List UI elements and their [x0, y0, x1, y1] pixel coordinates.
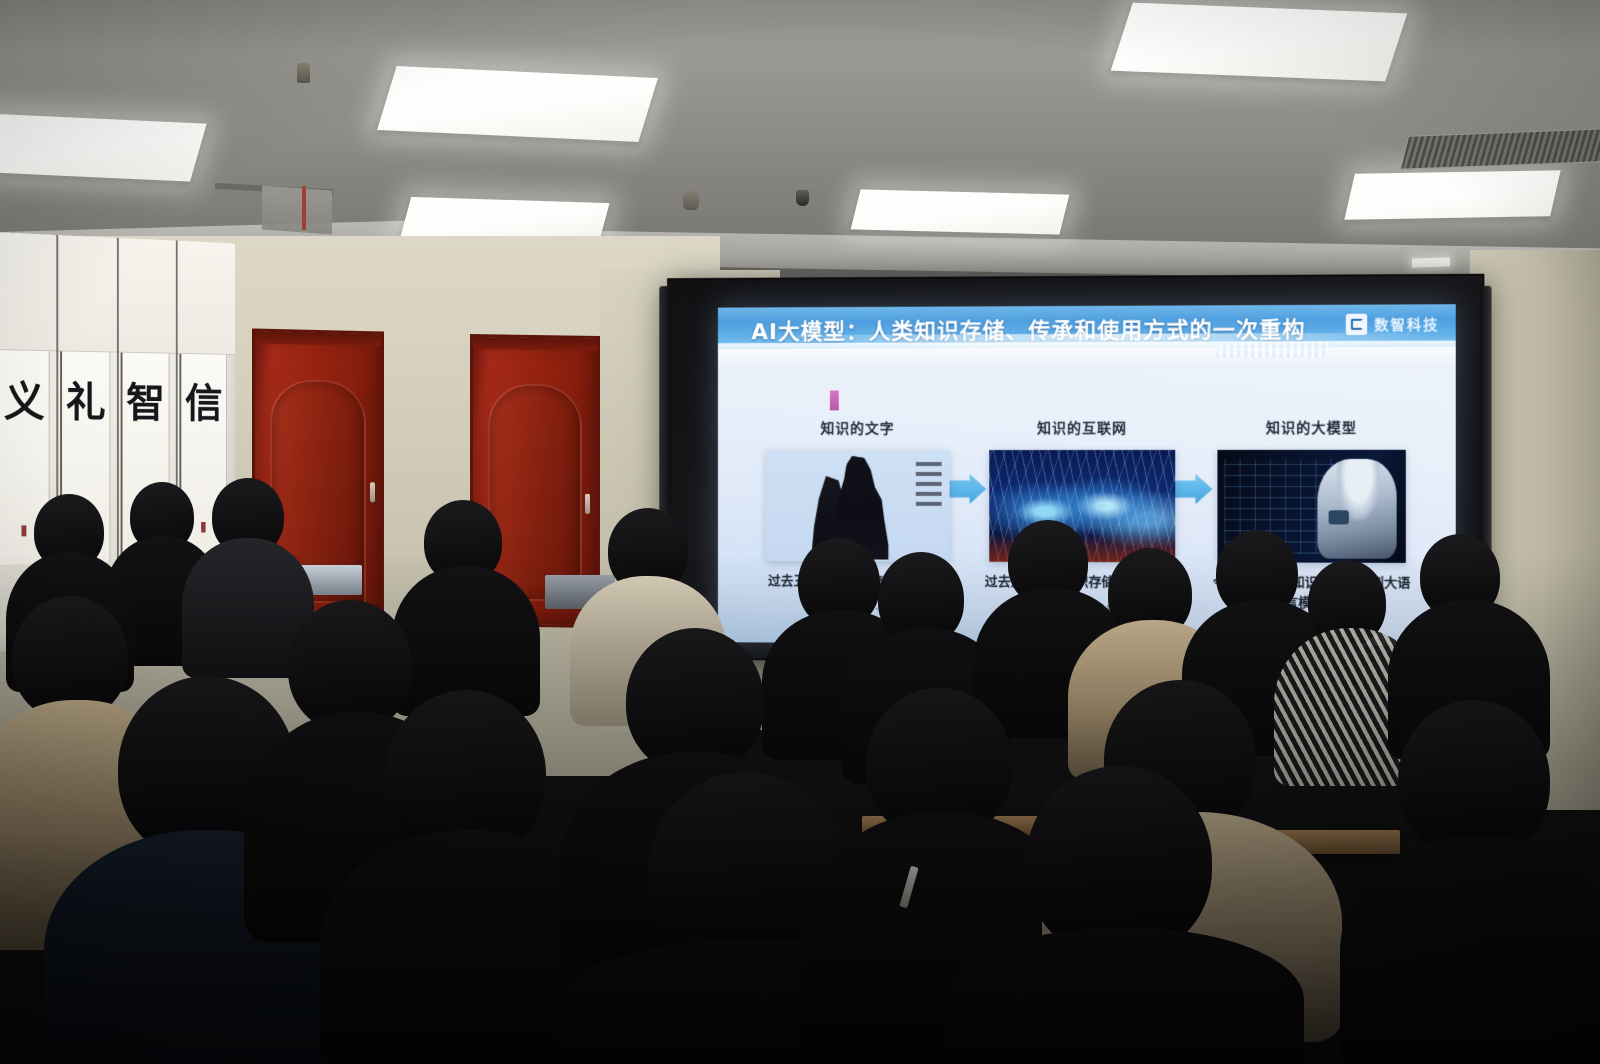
calligraphy-panel-li: 礼	[60, 351, 110, 563]
calligraphy-panel-xin: 信	[179, 354, 227, 560]
slide-column-2: 知识的互联网 过去三十年，知识存储在互联网中 网页 · 数据库 · 搜索	[982, 418, 1182, 619]
ceiling-red-conduit	[302, 186, 306, 230]
ceiling-panel-plate	[262, 186, 332, 235]
ceiling-speaker-icon	[796, 190, 809, 206]
sprinkler-icon	[297, 63, 310, 83]
calligraphy-glyph: 智	[123, 370, 169, 429]
brand-lockup: 数智科技	[1346, 313, 1440, 335]
column-heading: 知识的互联网	[982, 418, 1182, 438]
pen	[899, 866, 918, 909]
calligraphy-glyph: 信	[181, 371, 226, 430]
column-body-text: 今天，人类的知识体系迁移到大语言模型中	[1210, 573, 1413, 614]
door-handle-icon[interactable]	[585, 494, 590, 514]
laptop	[955, 660, 1027, 690]
panel-divider	[176, 241, 178, 644]
sprinkler-icon	[683, 188, 699, 210]
slide-column-1: 知识的文字 过去五千年，知识存储在书籍中 甲骨文 · 竹简 · 纸张	[759, 418, 956, 617]
desk-side	[1330, 966, 1600, 1026]
ceiling-light-strip	[1412, 257, 1450, 267]
ceiling-panel-light	[851, 189, 1070, 234]
ancient-scholar-illustration	[766, 450, 950, 562]
column-heading: 知识的大模型	[1210, 418, 1413, 438]
column-sub-text: 网页 · 数据库 · 搜索	[982, 603, 1182, 619]
door-frame-top	[255, 332, 381, 347]
column-sub-text: 参数 · 推理 · 生成	[1210, 624, 1413, 640]
robot-and-circuit-visualization	[1217, 450, 1405, 563]
ceiling-panel-light	[377, 66, 658, 142]
calligraphy-glyph: 礼	[62, 369, 109, 429]
column-heading: 知识的文字	[759, 418, 956, 438]
company-logo-icon	[1346, 314, 1367, 335]
meeting-room-door-left[interactable]	[252, 329, 384, 632]
seal-stamp-icon	[83, 524, 88, 535]
brand-name: 数智科技	[1374, 314, 1439, 334]
column-body-text: 过去五千年，知识存储在书籍中	[759, 572, 956, 593]
seal-stamp-icon	[201, 522, 205, 533]
ceiling-panel-light	[0, 112, 207, 181]
seal-stamp-icon	[21, 525, 26, 536]
door-arch-panel	[488, 383, 582, 602]
desk	[1150, 830, 1400, 854]
door-arch-panel	[270, 379, 366, 605]
meeting-room-door-right[interactable]	[470, 334, 600, 628]
ceiling-panel-light	[1344, 170, 1560, 220]
calligraphy-glyph: 义	[0, 368, 49, 429]
calligraphy-panel-yi: 义	[0, 350, 50, 565]
projection-screen: AI大模型：人类知识存储、传承和使用方式的一次重构 数智科技 知识的文字 过去五…	[667, 274, 1484, 665]
presentation-room-photo: 义 礼 智 信 AI大模型：人类知识存储、传承和使用方式的一次重构	[0, 0, 1600, 1064]
slide-column-3: 知识的大模型 今天，人类的知识体系迁移到大语言模型中 参数 · 推理 · 生成	[1210, 418, 1413, 640]
column-sub-text: 甲骨文 · 竹简 · 纸张	[759, 602, 956, 618]
calligraphy-panel-zhi: 智	[121, 353, 170, 562]
desk	[1290, 946, 1550, 972]
blue-network-city-visualization	[989, 450, 1175, 562]
door-handle-icon[interactable]	[370, 482, 375, 502]
seal-stamp-icon	[143, 523, 148, 534]
slide-bullet-marker	[830, 391, 839, 411]
door-frame-top	[473, 337, 597, 351]
panel-divider	[117, 238, 119, 646]
column-body-text: 过去三十年，知识存储在互联网中	[982, 573, 1182, 594]
presentation-slide: AI大模型：人类知识存储、传承和使用方式的一次重构 数智科技 知识的文字 过去五…	[718, 304, 1456, 646]
slide-wave-decoration	[718, 341, 1456, 369]
calligraphy-wall: 义 礼 智 信	[0, 232, 235, 652]
ceiling-panel-light	[1111, 3, 1408, 82]
desk	[862, 816, 1082, 838]
panel-divider	[56, 235, 58, 649]
